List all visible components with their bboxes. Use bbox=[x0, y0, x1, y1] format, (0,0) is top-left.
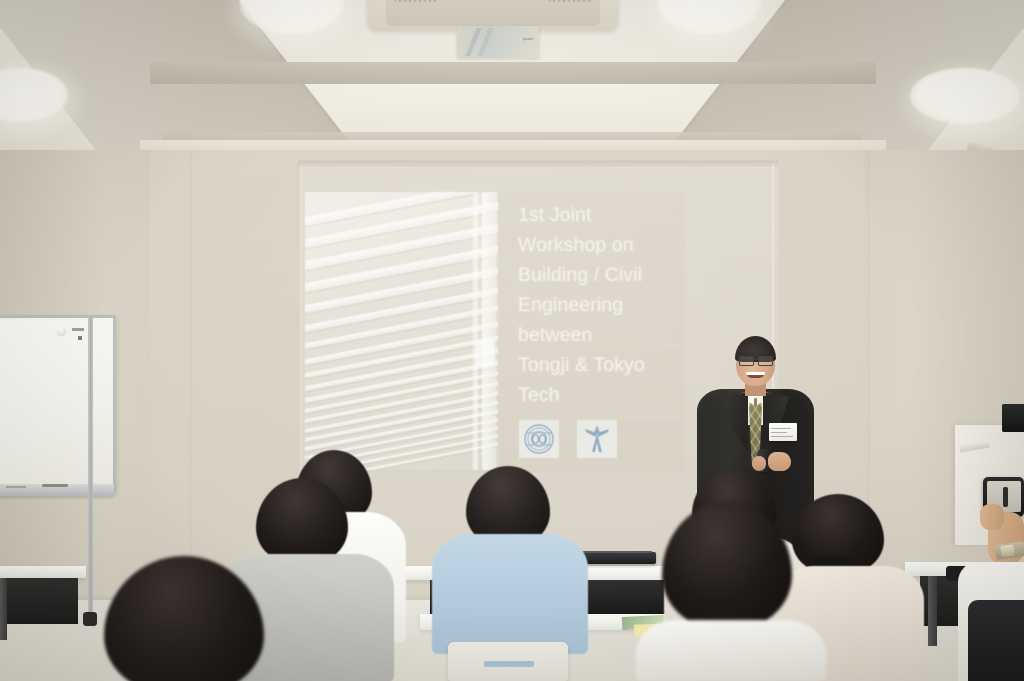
slide-photo-blind-bracket bbox=[476, 340, 494, 366]
desk-right-leg bbox=[928, 576, 937, 646]
whiteboard-marker[interactable] bbox=[42, 484, 68, 487]
slide-line-3: Building / Civil bbox=[518, 260, 698, 290]
whiteboard-eraser[interactable] bbox=[6, 486, 26, 488]
desk-left-far-under bbox=[0, 578, 78, 624]
smartphone-viewfinder-subject bbox=[1003, 487, 1008, 507]
photographer-lower-body bbox=[968, 600, 1024, 681]
slide-blinds-photo bbox=[305, 192, 498, 470]
mobile-whiteboard[interactable] bbox=[0, 315, 116, 493]
desk-left-far-leg bbox=[0, 578, 7, 640]
desk-left-far bbox=[0, 566, 86, 578]
attendee-blue-shirt-torso bbox=[432, 534, 588, 654]
slide-line-6: Tongji & Tokyo bbox=[518, 350, 698, 380]
laptop-lid-edge bbox=[582, 551, 652, 553]
presenter-glasses-icon bbox=[739, 356, 773, 364]
whiteboard-magnet-icon[interactable] bbox=[57, 326, 66, 335]
slide-title-text: 1st Joint Workshop on Building / Civil E… bbox=[518, 200, 698, 410]
slide-photo-window-mullion bbox=[473, 192, 478, 470]
whiteboard-surface[interactable] bbox=[0, 320, 111, 488]
concrete-beam-cross bbox=[150, 62, 876, 84]
presenter-smile bbox=[746, 372, 765, 378]
wall-seam-left bbox=[190, 150, 191, 620]
display-monitor bbox=[1002, 404, 1024, 432]
lecture-room-photo: panel bbox=[0, 0, 1024, 681]
projector-control-panel: panel bbox=[457, 26, 539, 58]
tongji-university-seal-icon bbox=[519, 420, 559, 458]
presenter-name-badge bbox=[769, 423, 797, 441]
ac-inner-panel bbox=[386, 0, 600, 26]
panel-label: panel bbox=[523, 36, 534, 41]
slide-line-1: 1st Joint bbox=[518, 200, 698, 230]
tokyo-tech-emblem-icon bbox=[577, 420, 617, 458]
wristwatch-face bbox=[1000, 544, 1014, 557]
whiteboard-caster-wheel bbox=[83, 612, 97, 626]
ceiling: panel bbox=[0, 0, 1024, 160]
presenter-hand-right bbox=[768, 452, 791, 471]
ceiling-light-4 bbox=[910, 68, 1020, 124]
presenter-hand-left bbox=[752, 456, 766, 471]
slide-line-4: Engineering bbox=[518, 290, 698, 320]
whiteboard-stand-post bbox=[88, 316, 93, 616]
whiteboard-clip-small[interactable] bbox=[78, 336, 82, 340]
laptop-closed[interactable] bbox=[578, 552, 656, 564]
slide-line-7: Tech bbox=[518, 380, 698, 410]
slide-line-5: between bbox=[518, 320, 698, 350]
whiteboard-clip[interactable] bbox=[72, 328, 84, 331]
photographer-hand bbox=[980, 504, 1004, 530]
projected-slide: 1st Joint Workshop on Building / Civil E… bbox=[305, 192, 685, 472]
chair-accent-stripe bbox=[484, 661, 534, 667]
attendee-right-front-torso bbox=[636, 620, 826, 681]
ac-grille-right bbox=[548, 0, 592, 2]
slide-photo-window-frame bbox=[482, 192, 496, 470]
slide-line-2: Workshop on bbox=[518, 230, 698, 260]
ac-grille-left bbox=[394, 0, 438, 2]
